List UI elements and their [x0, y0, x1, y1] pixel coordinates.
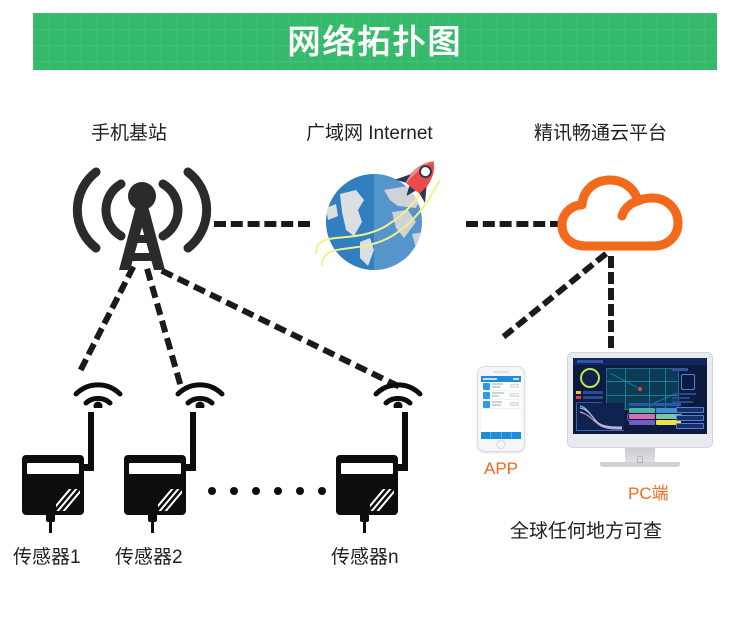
dashboard-data-card	[629, 408, 655, 413]
dashboard-line-chart	[576, 403, 624, 431]
connector-tower-to-sensor-n	[160, 268, 400, 389]
cloud-platform-label: 精讯畅通云平台	[534, 124, 667, 143]
page-header-banner: 网络拓扑图	[33, 13, 717, 70]
phone-speaker	[493, 371, 509, 373]
base-station-label: 手机基站	[91, 124, 167, 143]
dashboard-data-card	[629, 420, 655, 425]
smartphone-icon[interactable]	[477, 366, 525, 452]
apple-logo-icon: 	[637, 456, 644, 465]
internet-label: 广域网 Internet	[306, 124, 433, 143]
sensor-device-icon-1	[22, 402, 98, 534]
connector-internet-to-cloud	[466, 221, 562, 227]
ellipsis-dots	[208, 487, 326, 495]
app-list-item	[481, 391, 521, 400]
connector-tower-to-internet	[214, 221, 310, 227]
connector-cloud-to-app	[502, 251, 608, 339]
phone-home-button	[497, 440, 506, 449]
pc-dashboard-screen: ⟨ ⟩	[573, 358, 707, 434]
imac-monitor-icon[interactable]: ⟨ ⟩ 	[567, 352, 713, 467]
ellipsis-dot	[274, 487, 282, 495]
map-marker	[638, 387, 642, 391]
global-access-caption: 全球任何地方可查	[510, 522, 662, 541]
dashboard-action-buttons[interactable]	[676, 407, 704, 431]
globe-rocket-icon	[312, 150, 464, 283]
sensor-device-icon-2	[124, 402, 200, 534]
ellipsis-dot	[208, 487, 216, 495]
app-label: APP	[484, 460, 518, 477]
page-title: 网络拓扑图	[288, 25, 463, 58]
dashboard-data-cards	[629, 403, 681, 431]
app-tab-bar	[481, 432, 521, 439]
cell-tower-icon	[72, 162, 212, 285]
ellipsis-dot	[230, 487, 238, 495]
sensor-label-1: 传感器1	[13, 548, 81, 567]
connector-tower-to-sensor-2	[144, 268, 183, 385]
dashboard-right-panel	[672, 368, 704, 405]
ellipsis-dot	[252, 487, 260, 495]
connector-cloud-to-pc	[608, 256, 614, 348]
cloud-icon	[556, 172, 684, 261]
dashboard-header	[573, 358, 707, 365]
dashboard-data-card	[629, 414, 655, 419]
ellipsis-dot	[318, 487, 326, 495]
app-list-item	[481, 400, 521, 409]
sensor-label-2: 传感器2	[115, 548, 183, 567]
ellipsis-dot	[296, 487, 304, 495]
sensor-device-icon-n	[336, 402, 412, 534]
app-list-item	[481, 382, 521, 391]
phone-screen	[481, 376, 521, 439]
dashboard-gauge	[580, 368, 600, 388]
sensor-label-n: 传感器n	[331, 548, 399, 567]
pc-label: PC端	[628, 485, 669, 502]
